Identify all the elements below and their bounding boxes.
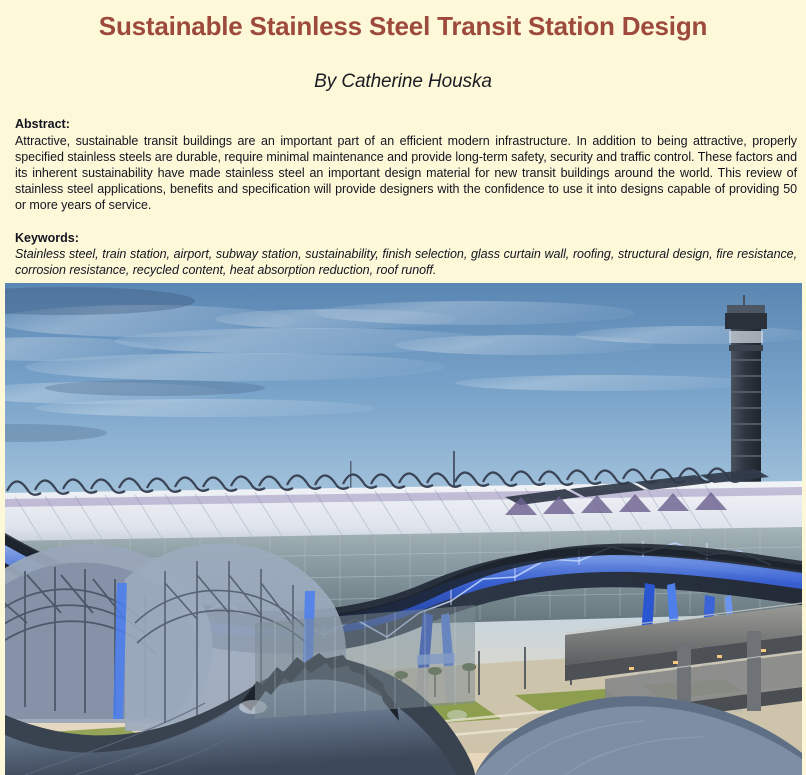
figure-illustration [5, 283, 802, 775]
page-title: Sustainable Stainless Steel Transit Stat… [0, 0, 806, 42]
transit-station-photo [5, 283, 802, 775]
terminal-interior-glazing [255, 605, 475, 719]
keywords-label: Keywords: [15, 213, 797, 247]
author-byline: By Catherine Houska [0, 42, 806, 93]
roof-mast [453, 451, 455, 491]
keywords-text: Stainless steel, train station, airport,… [15, 246, 797, 278]
abstract-text: Attractive, sustainable transit building… [15, 133, 797, 213]
roof-highlight-2 [447, 710, 467, 720]
abstract-section: Abstract: Attractive, sustainable transi… [0, 93, 806, 278]
abstract-label: Abstract: [15, 93, 797, 133]
document-page: Sustainable Stainless Steel Transit Stat… [0, 0, 806, 775]
